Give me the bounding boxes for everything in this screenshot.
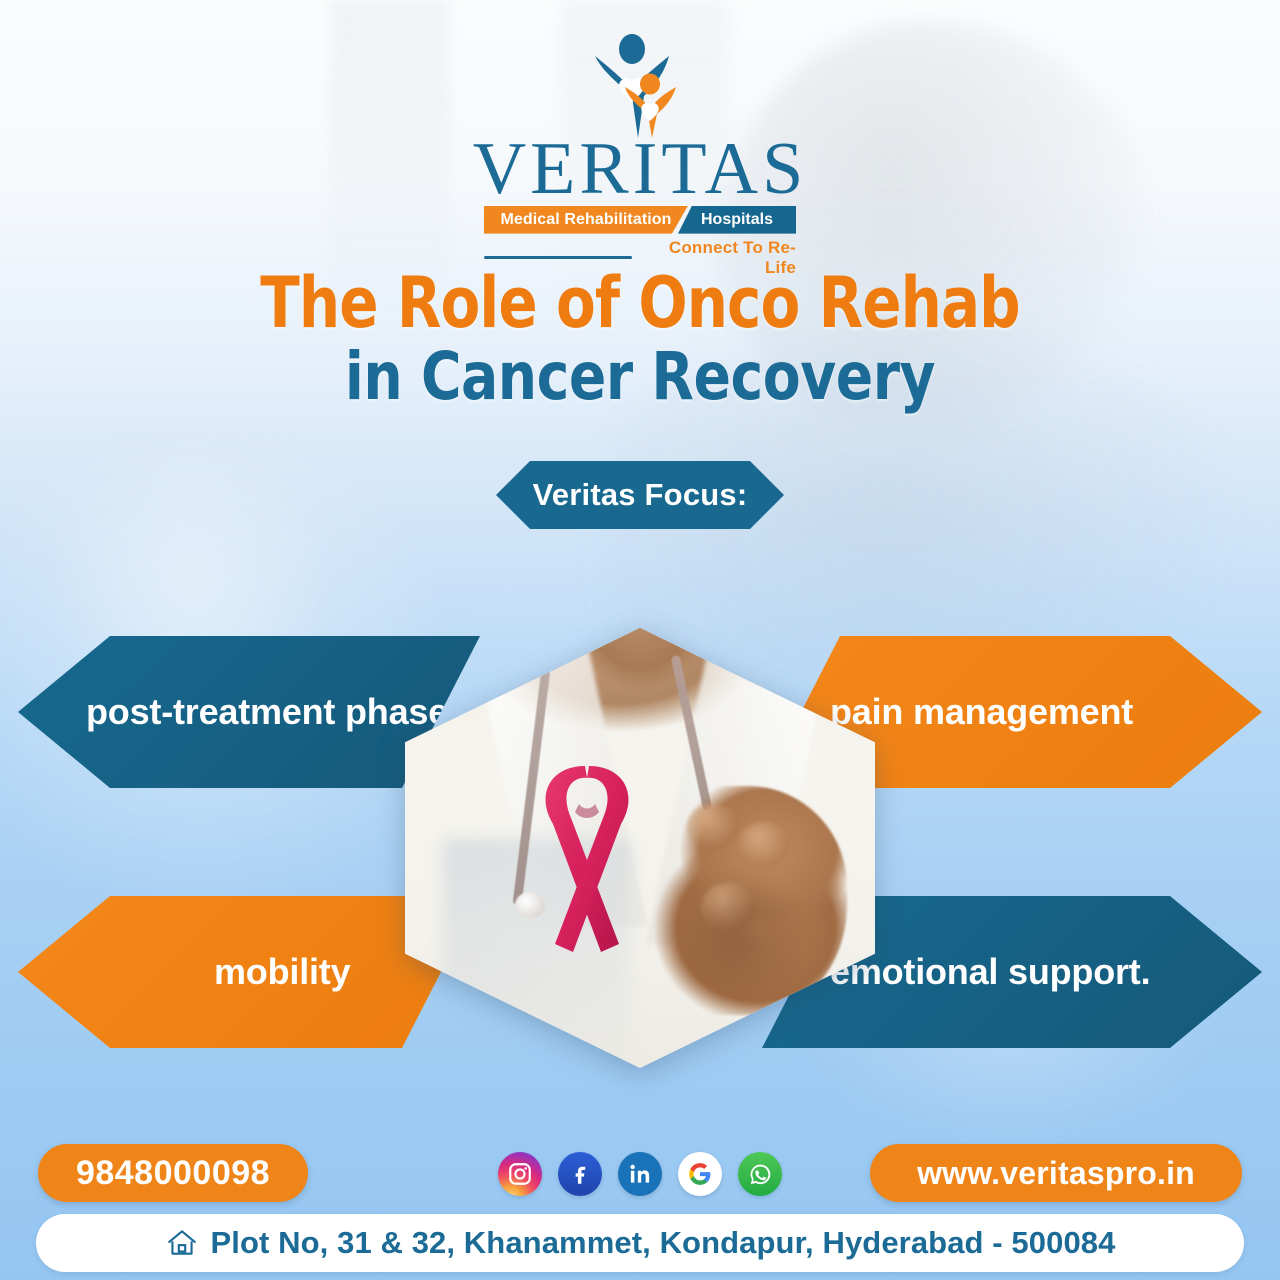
- knuckle: [687, 804, 739, 850]
- address-text: Plot No, 31 & 32, Khanammet, Kondapur, H…: [211, 1225, 1116, 1261]
- brand-bar-hospitals: Hospitals: [678, 206, 796, 234]
- page-title: The Role of Onco Rehab in Cancer Recover…: [0, 268, 1280, 411]
- brand-bar-medical-rehabilitation: Medical Rehabilitation: [484, 206, 688, 234]
- cancer-awareness-ribbon-icon: [523, 756, 653, 966]
- website-text: www.veritaspro.in: [917, 1155, 1195, 1192]
- whatsapp-icon[interactable]: [738, 1152, 782, 1196]
- knuckle: [739, 822, 789, 868]
- google-icon[interactable]: [678, 1152, 722, 1196]
- two-figures-heart-icon: [592, 34, 688, 142]
- brand-logo: VERITAS Medical Rehabilitation Hospitals…: [0, 34, 1280, 278]
- brand-wordmark: VERITAS: [473, 138, 808, 202]
- feature-label: emotional support.: [830, 951, 1150, 993]
- hand-shadow: [668, 874, 809, 1006]
- title-line-1: The Role of Onco Rehab: [51, 268, 1229, 338]
- footer: 9848000098: [0, 1110, 1280, 1280]
- feature-label: pain management: [830, 691, 1133, 733]
- tagline-rule: [484, 256, 632, 259]
- address-bar: Plot No, 31 & 32, Khanammet, Kondapur, H…: [36, 1214, 1244, 1272]
- poster-canvas: VERITAS Medical Rehabilitation Hospitals…: [0, 0, 1280, 1280]
- facebook-icon[interactable]: [558, 1152, 602, 1196]
- focus-banner: Veritas Focus:: [496, 461, 784, 529]
- center-hexagon-photo: [405, 628, 875, 1068]
- brand-subtitle-bar: Medical Rehabilitation Hospitals: [484, 206, 796, 234]
- social-icons-row: [498, 1152, 782, 1196]
- home-icon: [165, 1226, 199, 1260]
- phone-number-text: 9848000098: [76, 1154, 270, 1193]
- feature-label: post-treatment phase: [86, 691, 448, 733]
- title-line-2: in Cancer Recovery: [45, 342, 1235, 411]
- instagram-icon[interactable]: [498, 1152, 542, 1196]
- focus-banner-label: Veritas Focus:: [533, 477, 748, 513]
- feature-label: mobility: [214, 951, 350, 993]
- linkedin-icon[interactable]: [618, 1152, 662, 1196]
- phone-number-button[interactable]: 9848000098: [38, 1144, 308, 1202]
- website-button[interactable]: www.veritaspro.in: [870, 1144, 1242, 1202]
- hexagon-clip: [405, 628, 875, 1068]
